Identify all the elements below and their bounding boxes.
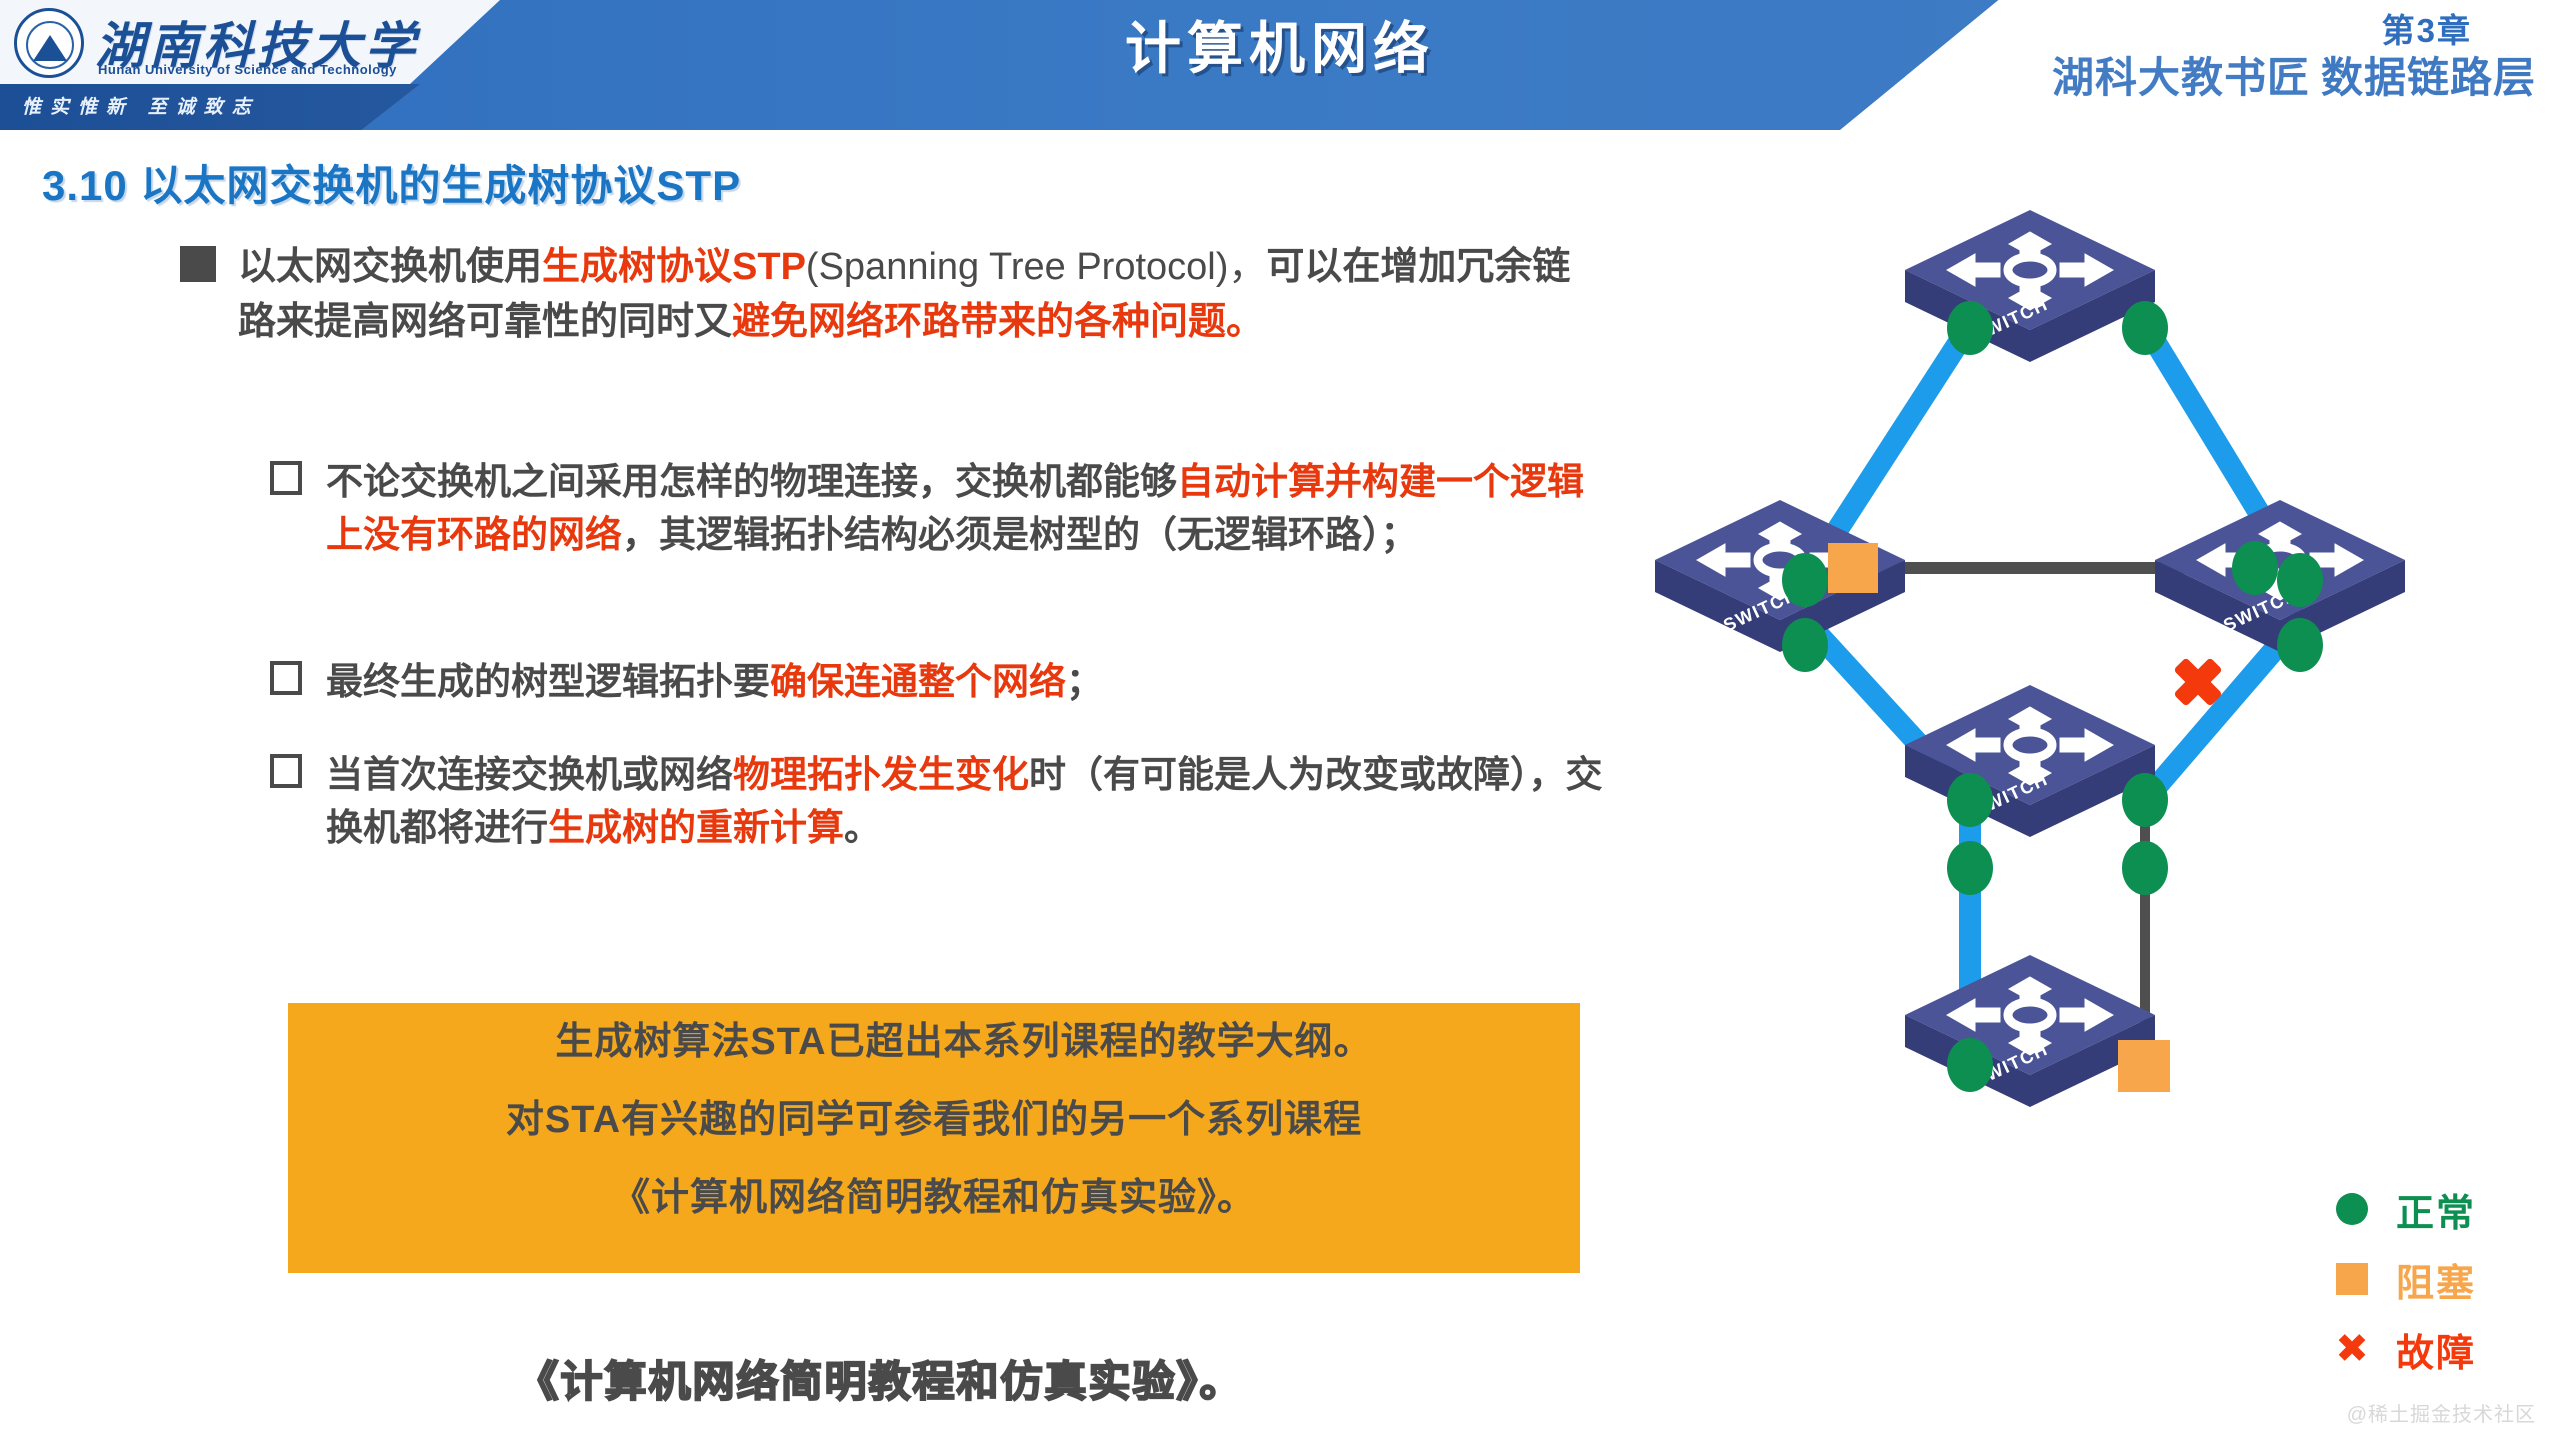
note-line-3: 《计算机网络简明教程和仿真实验》。 (288, 1159, 1580, 1237)
bullet-seg-highlight: 确保连通整个网络 (770, 661, 1066, 702)
red-x-icon: ✖ (2330, 1333, 2374, 1365)
legend-item-blocked: 阻塞 (2330, 1250, 2550, 1308)
switch-node-bottom (1905, 955, 2155, 1107)
main-bullet-text: 以太网交换机使用生成树协议STP(Spanning Tree Protocol)… (238, 240, 1580, 350)
bullet-seg: 当首次连接交换机或网络 (326, 754, 733, 795)
sub-bullet-1-text: 不论交换机之间采用怎样的物理连接，交换机都能够自动计算并构建一个逻辑上没有环路的… (326, 455, 1610, 561)
hollow-square-bullet-icon (270, 754, 302, 788)
green-circle-icon (2122, 773, 2168, 827)
orange-square-icon (2330, 1263, 2374, 1295)
switch-node-center (1905, 685, 2155, 837)
legend-item-normal: 正常 (2330, 1180, 2550, 1238)
green-circle-icon (1947, 841, 1993, 895)
bullet-seg-highlight: 生成树的重新计算 (548, 807, 844, 848)
bullet-seg: 以太网交换机使用 (238, 246, 542, 288)
sub-bullet-3-text: 当首次连接交换机或网络物理拓扑发生变化时（有可能是人为改变或故障），交换机都将进… (326, 748, 1610, 854)
bottom-caption: 《计算机网络简明教程和仿真实验》。 (0, 1348, 1760, 1409)
filled-square-bullet-icon (180, 246, 216, 282)
header-brand: 湖科大教书匠 (2052, 44, 2310, 105)
topology-links (1805, 325, 2300, 1065)
green-circle-icon (1947, 301, 1993, 355)
switch-node-top (1905, 210, 2155, 362)
bullet-seg-en: (Spanning Tree Protocol)， (806, 246, 1266, 288)
green-circle-icon (1782, 553, 1828, 607)
hollow-square-bullet-icon (270, 461, 302, 495)
legend-label-normal: 正常 (2396, 1182, 2476, 1237)
main-bullet: 以太网交换机使用生成树协议STP(Spanning Tree Protocol)… (180, 240, 1580, 350)
bullet-seg: 不论交换机之间采用怎样的物理连接，交换机都能够 (326, 461, 1177, 502)
legend-label-fault: 故障 (2396, 1322, 2476, 1377)
note-callout-box: 生成树算法STA已超出本系列课程的教学大纲。 对STA有兴趣的同学可参看我们的另… (288, 1003, 1580, 1273)
slide-content: 以太网交换机使用生成树协议STP(Spanning Tree Protocol)… (0, 0, 1620, 1440)
bullet-seg-highlight: 避免网络环路带来的各种问题。 (732, 301, 1264, 343)
sub-bullet-3: 当首次连接交换机或网络物理拓扑发生变化时（有可能是人为改变或故障），交换机都将进… (270, 748, 1610, 854)
green-circle-icon (2122, 841, 2168, 895)
green-circle-icon (1947, 1038, 1993, 1092)
green-circle-icon (1947, 773, 1993, 827)
bullet-seg: 最终生成的树型逻辑拓扑要 (326, 661, 770, 702)
sub-bullet-2: 最终生成的树型逻辑拓扑要确保连通整个网络； (270, 655, 1610, 708)
chapter-number: 第3章 (2382, 4, 2472, 52)
hollow-square-bullet-icon (270, 661, 302, 695)
orange-square-icon (1828, 543, 1878, 593)
legend-item-fault: ✖ 故障 (2330, 1320, 2550, 1378)
bullet-seg-highlight: 物理拓扑发生变化 (733, 754, 1029, 795)
bullet-seg: ，其逻辑拓扑结构必须是树型的（无逻辑环路）； (622, 514, 1418, 555)
chapter-name: 数据链路层 (2321, 44, 2536, 105)
bullet-seg: 。 (844, 807, 881, 848)
bullet-seg: ； (1066, 661, 1103, 702)
orange-square-icon (2118, 1040, 2170, 1092)
legend-label-blocked: 阻塞 (2396, 1252, 2476, 1307)
green-circle-icon (1782, 618, 1828, 672)
green-circle-icon (2277, 553, 2323, 607)
green-circle-icon (2330, 1193, 2374, 1225)
bullet-seg-highlight: 生成树协议STP (542, 246, 806, 288)
diagram-legend: 正常 阻塞 ✖ 故障 (2330, 1180, 2550, 1390)
watermark: @稀土掘金技术社区 (2347, 1398, 2536, 1427)
sub-bullet-1: 不论交换机之间采用怎样的物理连接，交换机都能够自动计算并构建一个逻辑上没有环路的… (270, 455, 1610, 561)
sub-bullet-2-text: 最终生成的树型逻辑拓扑要确保连通整个网络； (326, 655, 1610, 708)
green-circle-icon (2232, 541, 2278, 595)
green-circle-icon (2277, 618, 2323, 672)
note-line-1: 生成树算法STA已超出本系列课程的教学大纲。 (288, 1003, 1580, 1081)
note-line-2: 对STA有兴趣的同学可参看我们的另一个系列课程 (288, 1081, 1580, 1159)
green-circle-icon (2122, 301, 2168, 355)
